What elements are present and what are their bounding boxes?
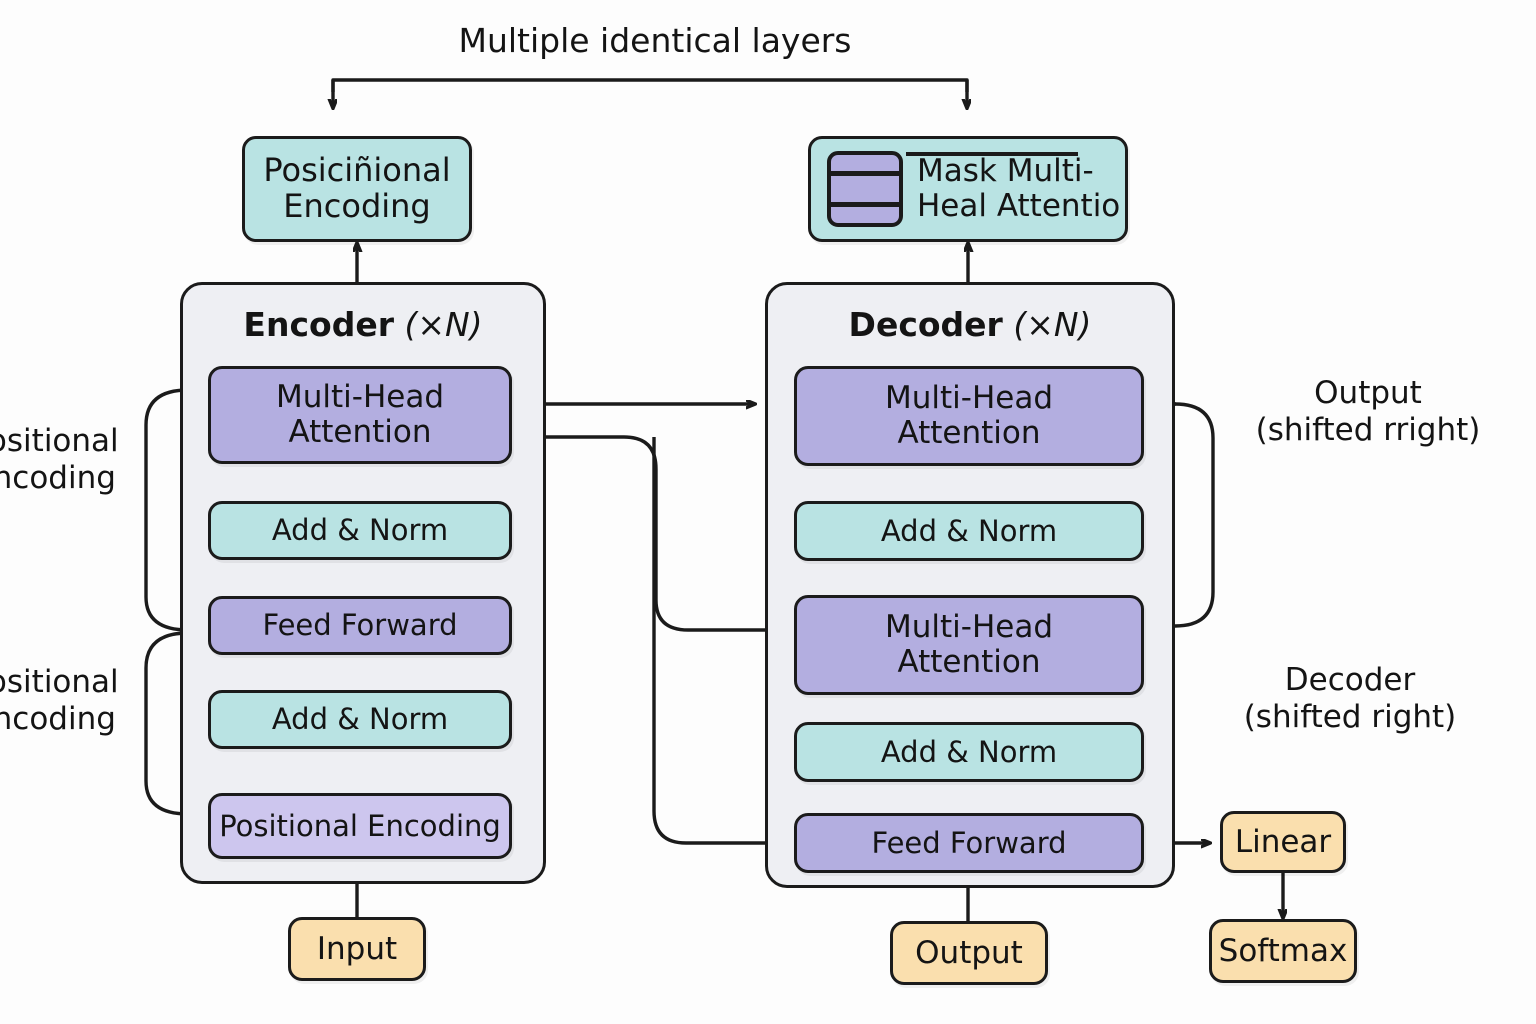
decoder-title-suffix: (×N) [1013,305,1091,344]
decoder-title: Decoder (×N) [768,305,1172,344]
encoder-positional-encoding-top[interactable]: Posiciñional Encoding [242,136,472,242]
encoder-title-suffix: (×N) [404,305,482,344]
top-bracket [333,80,967,92]
side-label-right-lower: Decoder (shifted right) [1200,662,1500,735]
right-bracket [1175,404,1213,626]
encoder-block-feed-forward[interactable]: Feed Forward [208,596,512,655]
decoder-block-multi-head-attention-2[interactable]: Multi-Head Attention [794,595,1144,695]
encoder-block-positional-encoding[interactable]: Positional Encoding [208,793,512,859]
top-caption: Multiple identical layers [0,22,1310,61]
enc-to-dec-mid [512,437,785,630]
encoder-title: Encoder (×N) [183,305,543,344]
decoder-block-multi-head-attention-1[interactable]: Multi-Head Attention [794,366,1144,466]
input-box[interactable]: Input [288,917,426,981]
encoder-title-main: Encoder [243,305,394,344]
encoder-block-add-norm-1[interactable]: Add & Norm [208,501,512,560]
decoder-block-add-norm-1[interactable]: Add & Norm [794,501,1144,561]
output-box[interactable]: Output [890,921,1048,985]
attention-matrix-icon [827,151,903,227]
decoder-title-main: Decoder [849,305,1003,344]
encoder-block-add-norm-2[interactable]: Add & Norm [208,690,512,749]
linear-box[interactable]: Linear [1220,811,1346,873]
decoder-block-feed-forward[interactable]: Feed Forward [794,813,1144,873]
encoder-block-multi-head-attention[interactable]: Multi-Head Attention [208,366,512,464]
diagram-canvas: Multiple identical layers Posiciñional E… [0,0,1536,1024]
side-label-right-upper: Output (shifted rright) [1218,375,1518,448]
strikethrough-line [906,152,1078,156]
side-label-left-upper: Positional Encoding [0,423,127,496]
softmax-box[interactable]: Softmax [1209,919,1357,983]
side-label-left-lower: Positional Encoding [0,664,127,737]
decoder-block-add-norm-2[interactable]: Add & Norm [794,722,1144,782]
decoder-top-box-label: Mask Multi- Heal Attentio [917,154,1120,223]
